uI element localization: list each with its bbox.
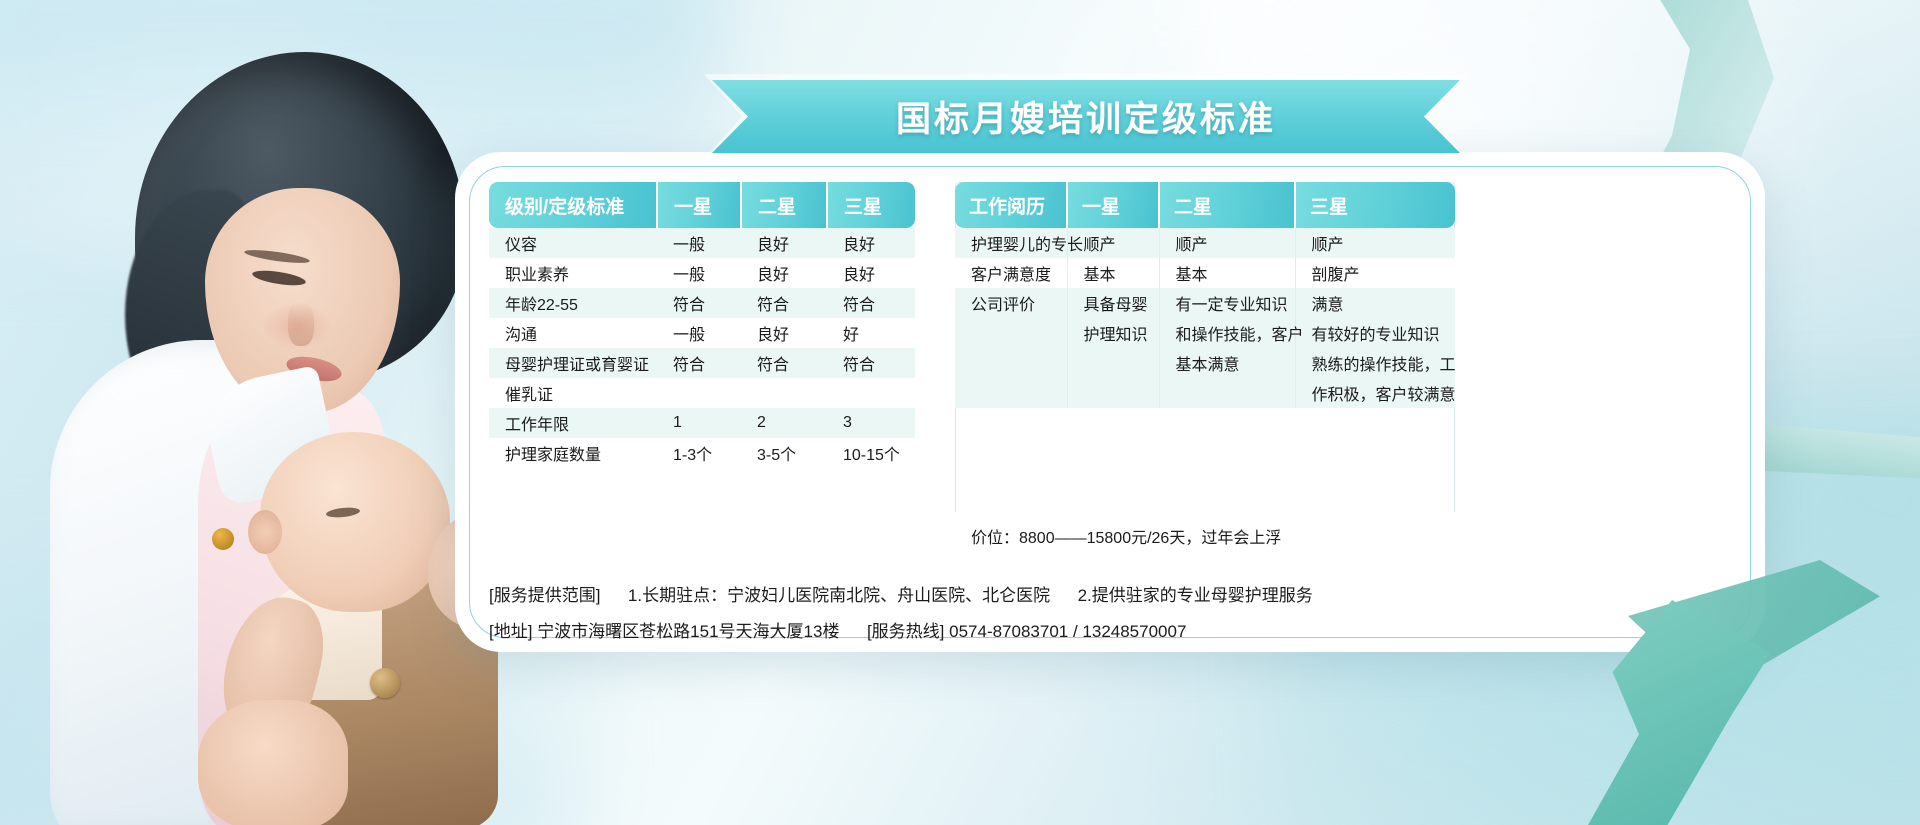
column-header-three-star: 三星 (1295, 182, 1455, 228)
photo-baby-shirt (262, 580, 382, 700)
photo-white-coat (50, 340, 380, 825)
cell-one-star: 符合 (657, 348, 741, 378)
row-label: 工作年限 (489, 408, 657, 438)
photo-hair-side (125, 190, 265, 440)
hotline-label: [服务热线] (867, 622, 944, 641)
photo-eye (251, 268, 306, 288)
cell-two-star (741, 378, 827, 408)
cell-three-star: 良好 (827, 258, 915, 288)
cell-two-star: 良好 (741, 228, 827, 258)
cell-three-star: 顺产 (1295, 228, 1455, 258)
cell-one-star: 1-3个 (657, 438, 741, 468)
address-value: 宁波市海曙区苍松路151号天海大厦13楼 (537, 622, 839, 641)
cell-three-star: 熟练的操作技能，工 (1295, 348, 1455, 378)
row-label: 沟通 (489, 318, 657, 348)
photo-face (205, 188, 400, 413)
table-row: 护理知识 和操作技能，客户 有较好的专业知识 (955, 318, 1455, 348)
cell-one-star: 基本 (1067, 258, 1159, 288)
service-scope-line: [服务提供范围] 1.长期驻点：宁波妇儿医院南北院、舟山医院、北仑医院 2.提供… (489, 581, 1313, 606)
photo-hair (135, 52, 465, 382)
cell-two-star: 顺产 (1159, 228, 1295, 258)
cell-one-star: 具备母婴 (1067, 288, 1159, 318)
cell-two-star: 有一定专业知识 (1159, 288, 1295, 318)
photo-baby-ear (248, 510, 282, 554)
cell-three-star: 符合 (827, 348, 915, 378)
cell-three-star: 符合 (827, 288, 915, 318)
row-label: 护理家庭数量 (489, 438, 657, 468)
poster-stage: 国标月嫂培训定级标准 级别/定级标准 一星 二星 三星 仪容 一般 良好 良好 … (0, 0, 1920, 825)
price-note-text: 价位：8800——15800元/26天，过年会上浮 (971, 524, 1281, 548)
grading-standards-table: 级别/定级标准 一星 二星 三星 仪容 一般 良好 良好 职业素养 一般 良好 … (489, 182, 915, 468)
table-row: 职业素养 一般 良好 良好 (489, 258, 915, 288)
column-header-two-star: 二星 (1159, 182, 1295, 228)
contact-line: [地址] 宁波市海曙区苍松路151号天海大厦13楼 [服务热线] 0574-87… (489, 617, 1186, 642)
page-title: 国标月嫂培训定级标准 (896, 91, 1276, 142)
photo-eyebrow (244, 247, 311, 265)
cell-two-star: 良好 (741, 258, 827, 288)
row-label: 年龄22-55 (489, 288, 657, 318)
photo-cheek (262, 302, 332, 350)
column-header-three-star: 三星 (827, 182, 915, 228)
photo-supporting-hand (198, 700, 348, 825)
table-row: 母婴护理证或育婴证 符合 符合 符合 (489, 348, 915, 378)
column-header-criteria: 级别/定级标准 (489, 182, 657, 228)
photo-baby-button (370, 668, 400, 698)
photo-collar (199, 365, 341, 507)
cell-one-star: 一般 (657, 318, 741, 348)
cell-one-star (657, 378, 741, 408)
table-row: 护理家庭数量 1-3个 3-5个 10-15个 (489, 438, 915, 468)
table-row: 工作年限 1 2 3 (489, 408, 915, 438)
cell-two-star: 和操作技能，客户 (1159, 318, 1295, 348)
row-label: 职业素养 (489, 258, 657, 288)
photo-badge-pin (212, 528, 234, 550)
row-label: 催乳证 (489, 378, 657, 408)
hotline-value: 0574-87083701 / 13248570007 (949, 622, 1186, 641)
row-label (955, 348, 1067, 378)
table-row: 仪容 一般 良好 良好 (489, 228, 915, 258)
cell-two-star: 符合 (741, 348, 827, 378)
column-header-one-star: 一星 (657, 182, 741, 228)
photo-baby-arm-right (209, 587, 335, 755)
address-label: [地址] (489, 622, 532, 641)
row-label: 客户满意度 (955, 258, 1067, 288)
cell-three-star: 10-15个 (827, 438, 915, 468)
table-row: 作积极，客户较满意 (955, 378, 1455, 408)
cell-one-star: 1 (657, 408, 741, 438)
table-row: 催乳证 (489, 378, 915, 408)
row-label (955, 378, 1067, 408)
table-row: 沟通 一般 良好 好 (489, 318, 915, 348)
cell-one-star: 一般 (657, 228, 741, 258)
column-header-experience: 工作阅历 (955, 182, 1067, 228)
cell-one-star: 护理知识 (1067, 318, 1159, 348)
table-header-row: 级别/定级标准 一星 二星 三星 (489, 182, 915, 228)
table-row: 护理婴儿的专长 顺产 顺产 顺产 (955, 228, 1455, 258)
table-row: 客户满意度 基本 基本 剖腹产 (955, 258, 1455, 288)
table-row: 年龄22-55 符合 符合 符合 (489, 288, 915, 318)
cell-two-star: 基本满意 (1159, 348, 1295, 378)
cell-two-star: 2 (741, 408, 827, 438)
column-header-one-star: 一星 (1067, 182, 1159, 228)
cell-three-star: 有较好的专业知识 (1295, 318, 1455, 348)
photo-lips (284, 352, 343, 385)
photo-pink-coat (198, 390, 388, 825)
cell-one-star (1067, 378, 1159, 408)
row-label: 护理婴儿的专长 (955, 228, 1067, 258)
photo-nose (288, 302, 314, 346)
price-note-row: 价位：8800——15800元/26天，过年会上浮 (955, 512, 1455, 560)
photo-baby-head (260, 432, 450, 612)
cell-one-star: 符合 (657, 288, 741, 318)
cell-one-star: 一般 (657, 258, 741, 288)
service-scope-item1: 1.长期驻点：宁波妇儿医院南北院、舟山医院、北仑医院 (628, 586, 1050, 605)
cell-two-star: 3-5个 (741, 438, 827, 468)
row-label: 公司评价 (955, 288, 1067, 318)
work-experience-table: 工作阅历 一星 二星 三星 护理婴儿的专长 顺产 顺产 顺产 客户满意度 基本 … (955, 182, 1455, 408)
service-scope-label: [服务提供范围] (489, 586, 600, 605)
banner-ribbon: 国标月嫂培训定级标准 (712, 80, 1460, 153)
cell-three-star: 良好 (827, 228, 915, 258)
cell-two-star (1159, 378, 1295, 408)
cell-three-star: 好 (827, 318, 915, 348)
cell-three-star: 3 (827, 408, 915, 438)
table-header-row: 工作阅历 一星 二星 三星 (955, 182, 1455, 228)
cell-two-star: 良好 (741, 318, 827, 348)
cell-three-star: 作积极，客户较满意 (1295, 378, 1455, 408)
column-header-two-star: 二星 (741, 182, 827, 228)
cell-three-star: 满意 (1295, 288, 1455, 318)
service-scope-item2: 2.提供驻家的专业母婴护理服务 (1078, 586, 1313, 605)
cell-three-star (827, 378, 915, 408)
cell-two-star: 基本 (1159, 258, 1295, 288)
cell-three-star: 剖腹产 (1295, 258, 1455, 288)
row-label: 母婴护理证或育婴证 (489, 348, 657, 378)
photo-baby-eye (326, 506, 361, 519)
row-label (955, 318, 1067, 348)
cell-one-star (1067, 348, 1159, 378)
row-label: 仪容 (489, 228, 657, 258)
cell-two-star: 符合 (741, 288, 827, 318)
table-row: 基本满意 熟练的操作技能，工 (955, 348, 1455, 378)
table-row: 公司评价 具备母婴 有一定专业知识 满意 (955, 288, 1455, 318)
